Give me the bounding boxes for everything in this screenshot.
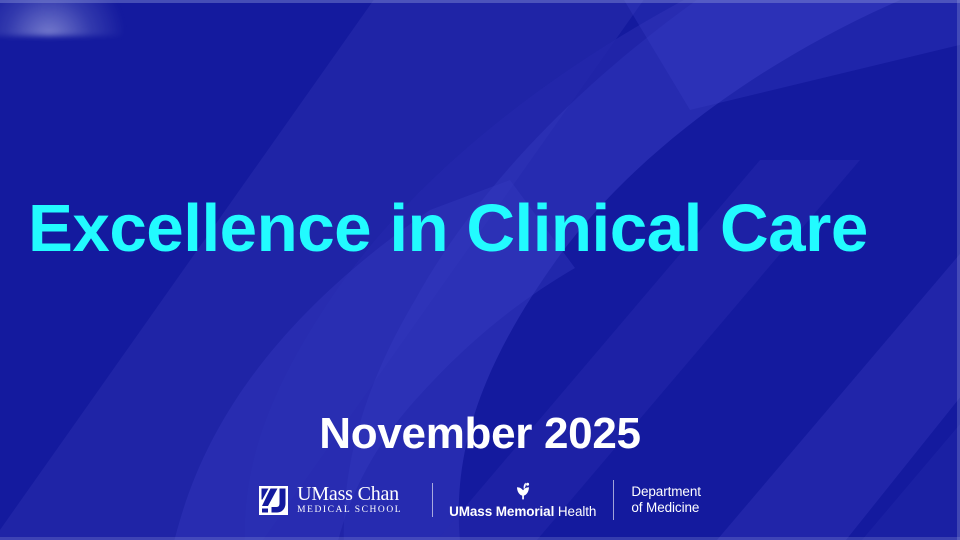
umass-memorial-tulip-icon <box>513 481 533 501</box>
umass-memorial-health-logo: UMass Memorial Health <box>449 481 596 519</box>
slide-border-top <box>0 0 960 3</box>
logo-divider-2 <box>613 480 614 520</box>
umass-chan-tagline: MEDICAL SCHOOL <box>297 505 402 516</box>
department-line-1: Department <box>631 484 701 500</box>
logo-lockup: UMass Chan MEDICAL SCHOOL UMass Memorial… <box>0 480 960 520</box>
slide-title: Excellence in Clinical Care <box>28 190 949 268</box>
logo-divider-1 <box>432 483 433 517</box>
umass-chan-name: UMass Chan <box>297 484 399 505</box>
title-slide: Excellence in Clinical Care November 202… <box>0 0 960 540</box>
umass-memorial-light-text: Health <box>558 504 596 519</box>
department-of-medicine-wordmark: Department of Medicine <box>631 484 701 516</box>
umass-chan-mark-svg <box>259 486 288 515</box>
umass-memorial-wordmark: UMass Memorial Health <box>449 504 596 519</box>
umass-chan-wordmark: UMass Chan MEDICAL SCHOOL <box>297 484 402 516</box>
umass-memorial-bold-text: UMass Memorial <box>449 504 554 519</box>
umass-chan-logo: UMass Chan MEDICAL SCHOOL <box>259 484 416 516</box>
slide-subtitle-date: November 2025 <box>0 408 960 460</box>
umass-chan-square-mark <box>259 486 288 515</box>
department-line-2: of Medicine <box>631 500 699 516</box>
